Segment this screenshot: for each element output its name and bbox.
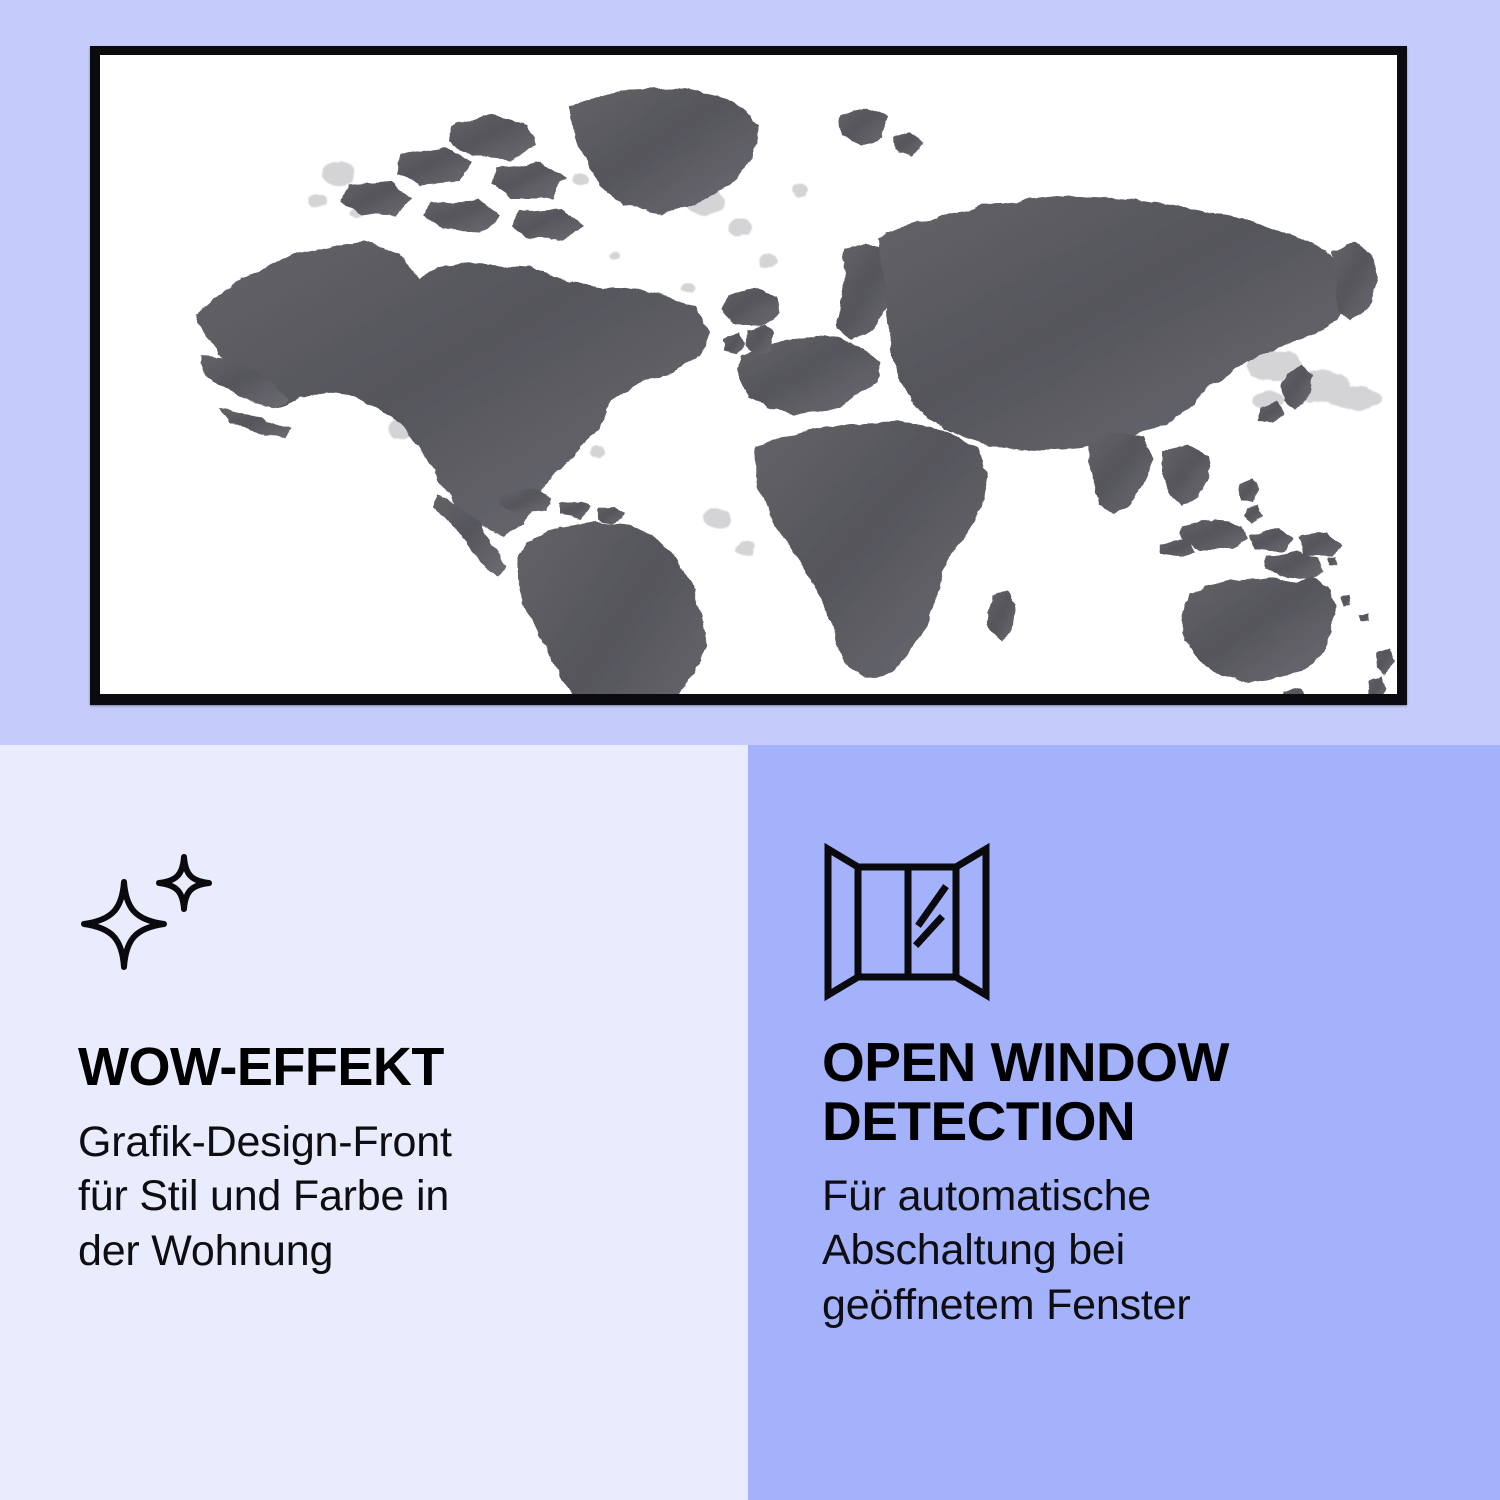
- sparkle-icon: [78, 843, 228, 993]
- hero-section: [0, 0, 1500, 745]
- product-feature-card: WOW-EFFEKT Grafik-Design-Front für Stil …: [0, 0, 1500, 1500]
- feature-panel-open-window-detection: OPEN WINDOW DETECTION Für automatische A…: [748, 745, 1500, 1500]
- panel-headline: OPEN WINDOW DETECTION: [822, 1033, 1342, 1151]
- open-window-icon: [822, 843, 992, 1005]
- picture-frame: [90, 46, 1407, 705]
- world-map-artwork: [100, 55, 1397, 694]
- open-window-icon-container: [822, 843, 1430, 1033]
- panel-subline: Für automatische Abschaltung bei geöffne…: [822, 1169, 1430, 1333]
- framed-canvas: [100, 55, 1397, 694]
- panel-subline: Grafik-Design-Front für Stil und Farbe i…: [78, 1115, 678, 1279]
- feature-panel-wow-effekt: WOW-EFFEKT Grafik-Design-Front für Stil …: [0, 745, 748, 1500]
- sparkle-icon-container: [78, 843, 678, 1033]
- world-map-svg: [100, 55, 1397, 694]
- feature-panels: WOW-EFFEKT Grafik-Design-Front für Stil …: [0, 745, 1500, 1500]
- panel-headline: WOW-EFFEKT: [78, 1039, 678, 1097]
